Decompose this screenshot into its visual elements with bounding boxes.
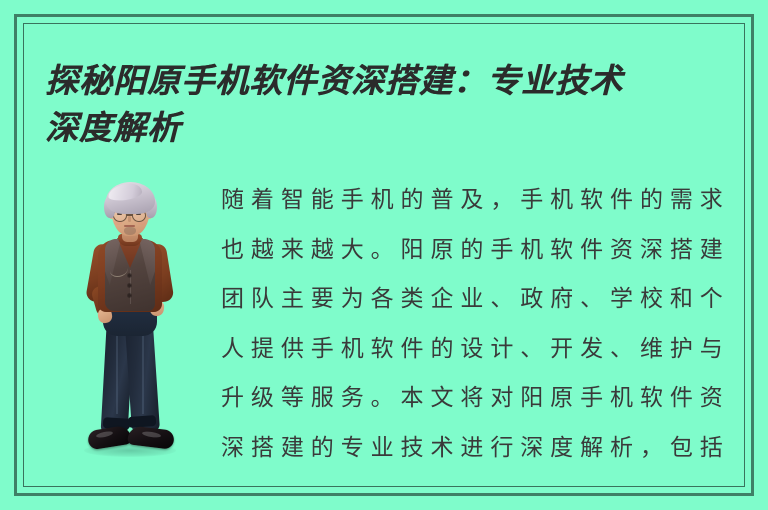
title-line-2: 深度解析 [45,108,181,147]
man-with-glasses-illustration [70,182,190,470]
glasses-bridge [126,214,133,216]
nose [128,216,131,222]
vest-button-2 [128,284,131,287]
body-line: 团队主要为各类企业、政府、学校和个 [221,275,723,325]
left-leg-seam [116,328,118,414]
body-line: 人提供手机软件的设计、开发、维护与 [221,325,723,375]
goatee [124,227,136,235]
title-line-1: 探秘阳原手机软件资深搭建：专业技术 [45,61,623,100]
vest-button-3 [128,294,131,297]
poster-canvas: 探秘阳原手机软件资深搭建：专业技术深度解析 [0,0,768,510]
body-line: 随着智能手机的普及，手机软件的需求 [221,176,723,226]
vest-button-1 [128,274,131,277]
body-line: 也越来越大。阳原的手机软件资深搭建 [221,226,723,276]
right-leg-seam [142,328,144,414]
article-body: 随着智能手机的普及，手机软件的需求也越来越大。阳原的手机软件资深搭建团队主要为各… [221,176,723,473]
body-line: 深搭建的专业技术进行深度解析，包括 [221,424,723,474]
page-title: 探秘阳原手机软件资深搭建：专业技术深度解析 [45,57,735,151]
body-line: 升级等服务。本文将对阳原手机软件资 [221,374,723,424]
